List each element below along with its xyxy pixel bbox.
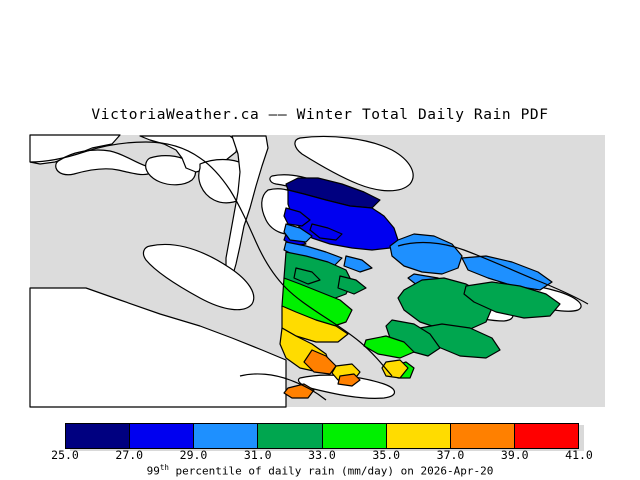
colorbar-tick-29-0: 29.0 (180, 448, 208, 462)
colorbar-ticks: 25.027.029.031.033.035.037.039.041.0 (65, 448, 579, 464)
colorbar-strip (65, 423, 579, 449)
colorbar-segment-light-blue (194, 424, 258, 448)
colorbar-segment-bright-green (323, 424, 387, 448)
colorbar-segment-green (258, 424, 322, 448)
colorbar-caption: 99th percentile of daily rain (mm/day) o… (0, 463, 640, 478)
colorbar-segment-yellow (387, 424, 451, 448)
colorbar-tick-39-0: 39.0 (501, 448, 529, 462)
colorbar-tick-33-0: 33.0 (308, 448, 336, 462)
caption-ordinal: th (160, 463, 169, 472)
colorbar-tick-41-0: 41.0 (565, 448, 593, 462)
colorbar-segment-red (515, 424, 578, 448)
caption-suffix: percentile of daily rain (mm/day) on 202… (169, 465, 494, 478)
caption-prefix: 99 (147, 465, 160, 478)
contour-map (0, 128, 640, 413)
colorbar-segment-orange (451, 424, 515, 448)
colorbar-tick-31-0: 31.0 (244, 448, 272, 462)
colorbar-tick-25-0: 25.0 (51, 448, 79, 462)
page-title: VictoriaWeather.ca —— Winter Total Daily… (0, 107, 640, 123)
colorbar-tick-35-0: 35.0 (372, 448, 400, 462)
map-canvas (0, 128, 640, 413)
colorbar-tick-37-0: 37.0 (437, 448, 465, 462)
colorbar-tick-27-0: 27.0 (115, 448, 143, 462)
colorbar-segment-blue (130, 424, 194, 448)
colorbar-legend: 25.027.029.031.033.035.037.039.041.0 99t… (0, 418, 640, 480)
colorbar-segment-navy (66, 424, 130, 448)
weather-map-page: VictoriaWeather.ca —— Winter Total Daily… (0, 0, 640, 480)
